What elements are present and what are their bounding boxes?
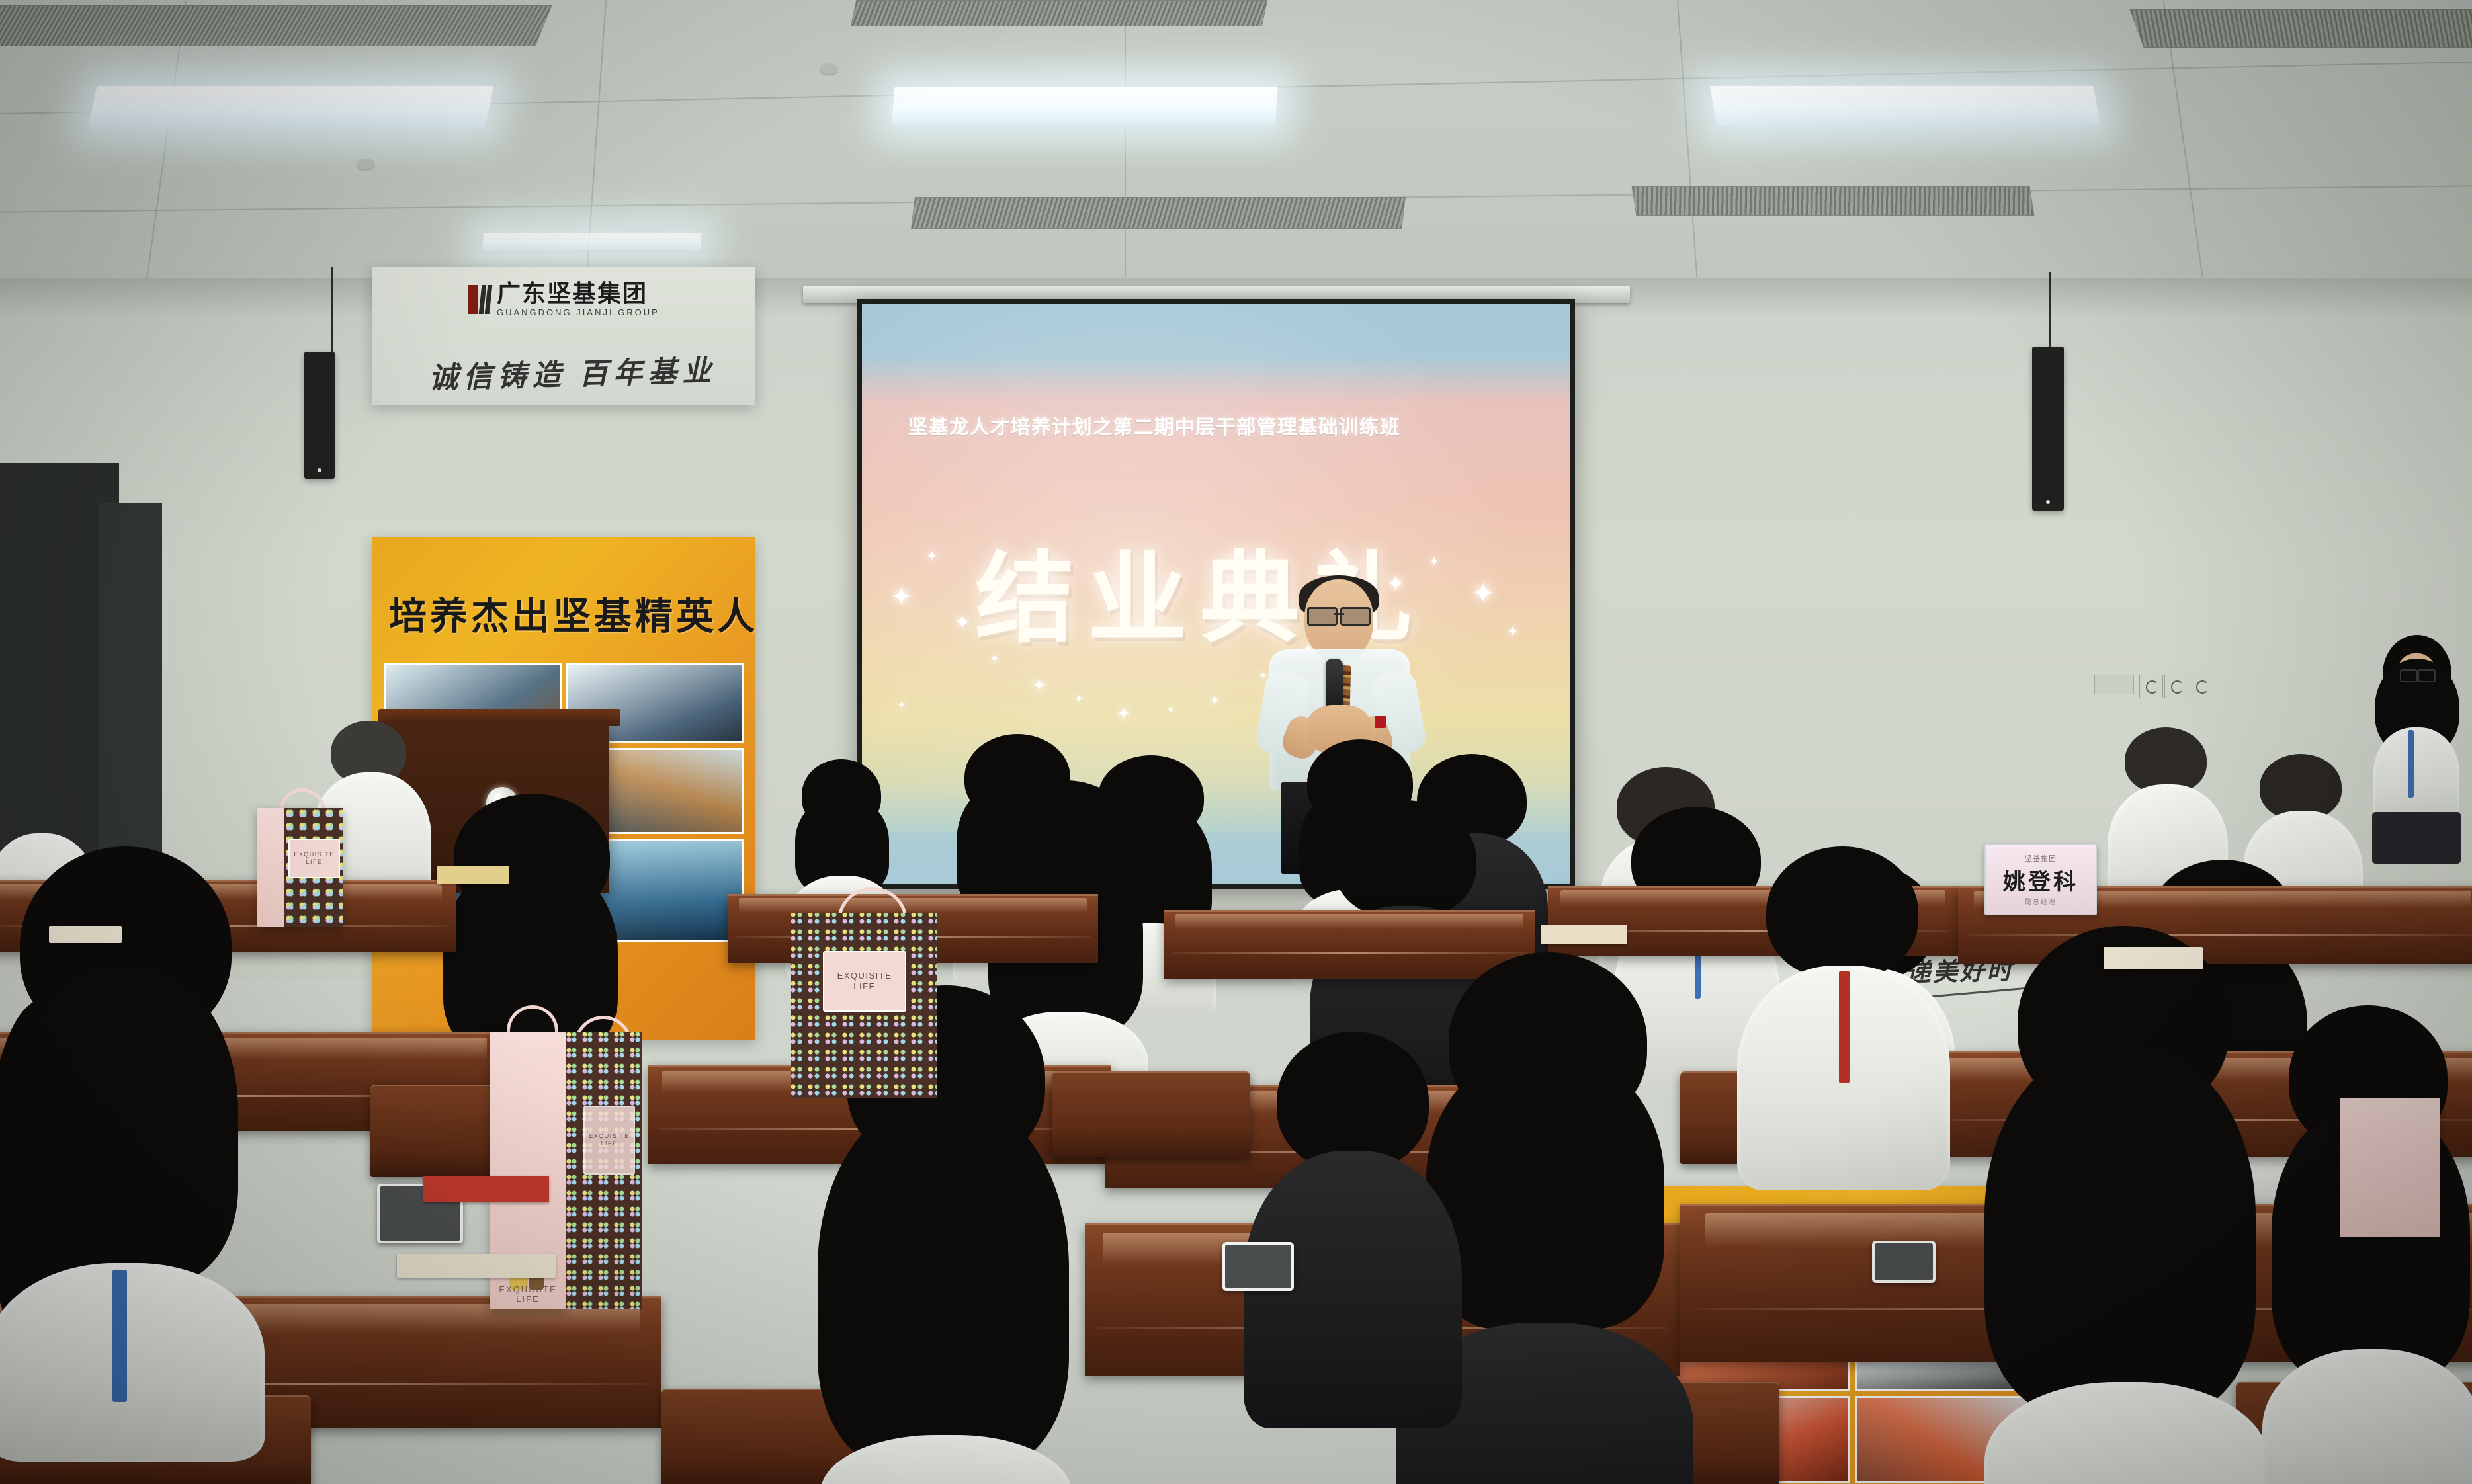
tag-line-1: EXQUISITE	[837, 971, 892, 981]
hvac-vent	[2129, 9, 2472, 48]
tag-line-2: LIFE	[306, 858, 322, 866]
handout-paper[interactable]	[49, 926, 122, 943]
handout-paper[interactable]	[397, 1254, 556, 1278]
gift-bag[interactable]: EXQUISITE LIFE	[257, 808, 343, 927]
gift-bag-brand-text: EXQUISITE LIFE	[490, 1284, 566, 1304]
ceiling-light-panel	[88, 86, 493, 127]
placard-org: 坚基集团	[2025, 853, 2057, 864]
handout-paper[interactable]	[423, 1176, 549, 1202]
tag-line-2: LIFE	[601, 1140, 617, 1147]
gift-bag[interactable]: EXQUISITE LIFE	[791, 913, 937, 1098]
brand-name-cn: 广东坚基集团	[497, 282, 660, 306]
placard-name: 姚登科	[2003, 864, 2078, 896]
left-poster-header: 广东坚基集团 GUANGDONG JIANJI GROUP 诚信铸造 百年基业	[372, 267, 755, 405]
tag-line-2: LIFE	[853, 981, 875, 992]
name-placard: 坚基集团 姚登科 副总经理	[1984, 844, 2097, 915]
wall-speaker	[304, 352, 335, 479]
ceiling	[0, 0, 2472, 284]
wall-speaker	[2032, 347, 2064, 511]
audience-member-foreground	[1958, 926, 2276, 1484]
lanyard	[1839, 971, 1850, 1083]
wall-socket[interactable]	[2190, 675, 2213, 698]
glasses-icon	[1307, 607, 1371, 622]
audience-member-foreground	[1733, 846, 1951, 1217]
smoke-detector-icon	[357, 159, 374, 169]
ceiling-light-panel	[482, 233, 702, 250]
lanyard	[112, 1270, 127, 1402]
gift-bag-tag: EXQUISITE LIFE	[288, 839, 340, 878]
ceiling-light-panel	[892, 87, 1278, 124]
tag-line-1: EXQUISITE	[589, 1133, 630, 1140]
standing-woman-right	[2367, 635, 2466, 860]
jianji-group-logo: 广东坚基集团 GUANGDONG JIANJI GROUP	[468, 282, 660, 317]
hvac-vent	[1632, 186, 2035, 216]
jianji-logo-mark	[468, 285, 491, 314]
handout-paper[interactable]	[1541, 925, 1627, 944]
audience-member-foreground	[2262, 1005, 2472, 1468]
gift-bag-tag: EXQUISITE LIFE	[583, 1106, 635, 1175]
smartphone[interactable]	[1222, 1242, 1294, 1291]
handout-paper[interactable]	[437, 866, 509, 884]
tag-line-1: EXQUISITE	[294, 851, 335, 858]
slide-subtitle: 坚基龙人才培养计划之第二期中层干部管理基础训练班	[908, 411, 1531, 440]
wall-cabinet-panel	[99, 503, 162, 880]
left-poster-calligraphy: 诚信铸造 百年基业	[428, 347, 717, 396]
handout-paper[interactable]	[2104, 947, 2203, 969]
speaker-cord	[2049, 272, 2051, 350]
gift-bag-tag: EXQUISITE LIFE	[823, 951, 906, 1012]
audience-member-foreground	[0, 846, 265, 1455]
wall-plate[interactable]	[2094, 675, 2134, 694]
ceiling-light-panel	[1710, 86, 2101, 126]
left-poster-headline: 培养杰出坚基精英人才	[389, 586, 755, 640]
speaker-cord	[331, 267, 333, 357]
lanyard	[2408, 730, 2414, 798]
placard-title: 副总经理	[2025, 896, 2057, 906]
wall-socket[interactable]	[2139, 675, 2163, 698]
wall-socket[interactable]	[2164, 675, 2188, 698]
hvac-vent	[0, 5, 552, 46]
classroom-photo-scene: ✦ ✦ ✦ ✦ ✦ ✦ ✦ ✦ ✦ ✦ ✦ ✦ ✦ ✦ ✦ ✦ ✦ ✦ 坚基龙人…	[0, 0, 2472, 1484]
hvac-vent	[851, 0, 1268, 26]
hvac-vent	[911, 197, 1406, 229]
smoke-detector-icon	[820, 63, 837, 74]
gift-bag[interactable]	[2340, 1098, 2440, 1237]
smartphone[interactable]	[1872, 1241, 1936, 1283]
brand-name-en: GUANGDONG JIANJI GROUP	[497, 308, 660, 317]
presenter-lapel-badge	[1375, 716, 1386, 728]
